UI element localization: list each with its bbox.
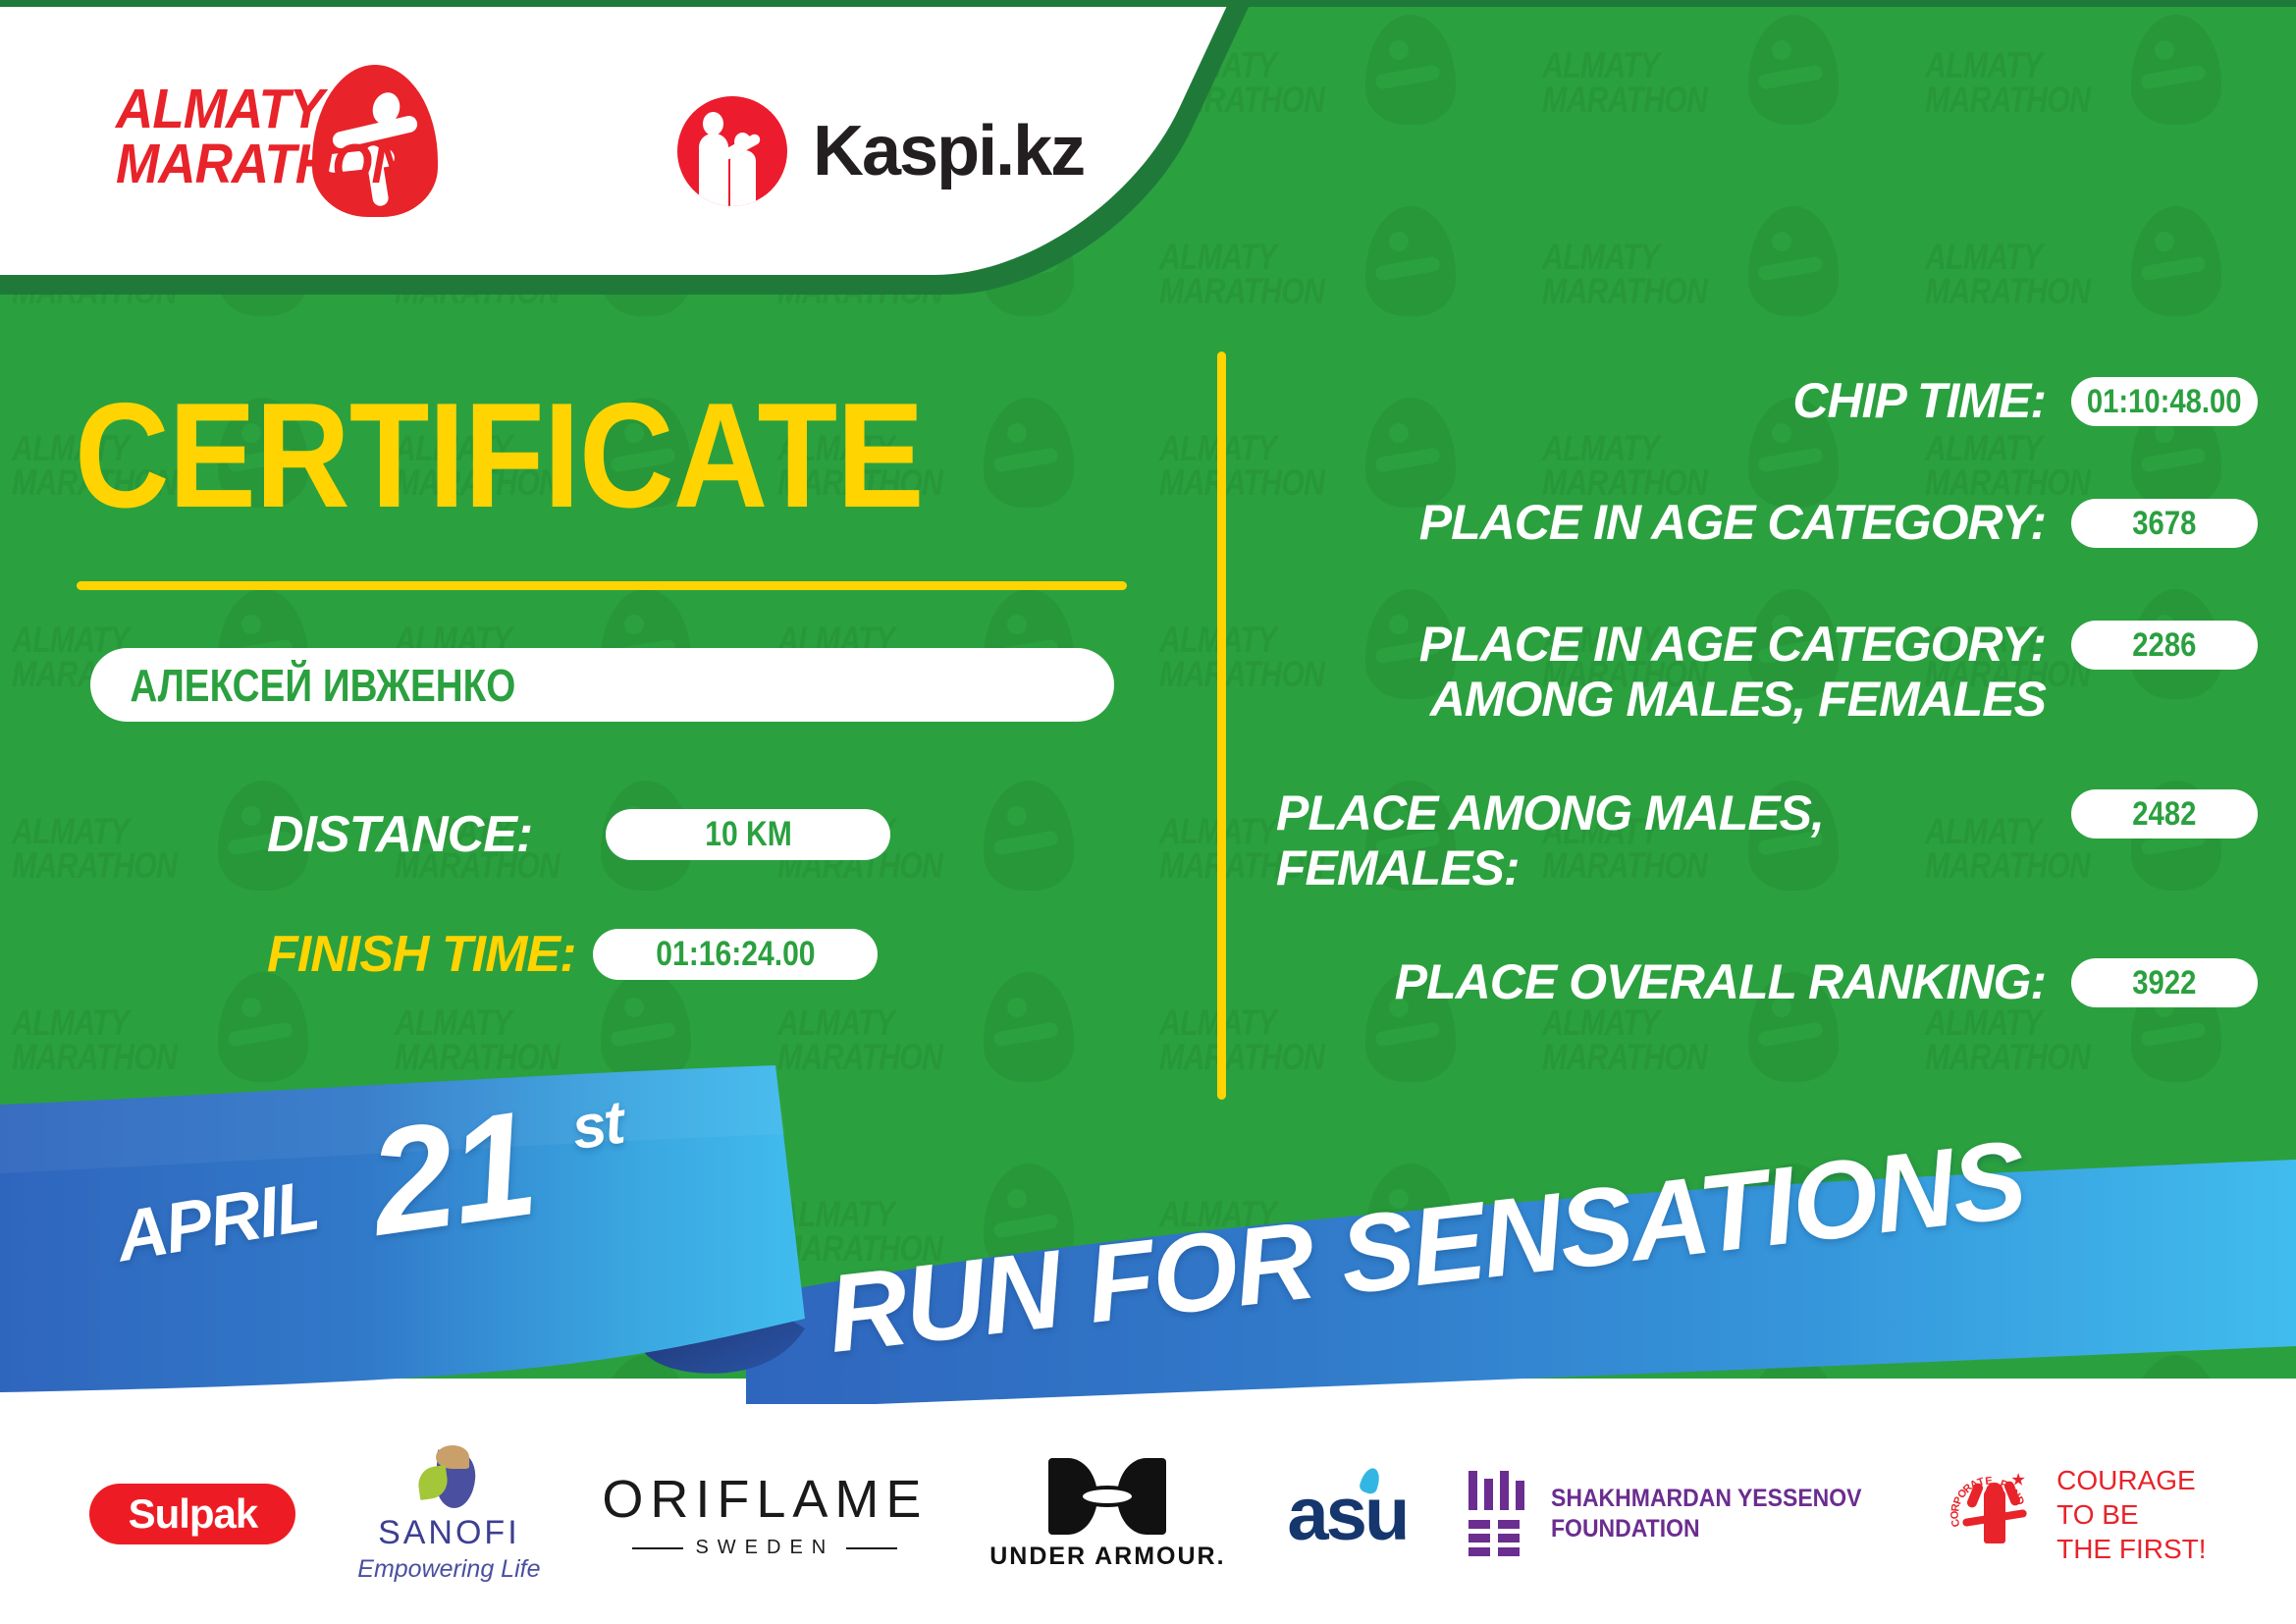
watermark-drop-icon bbox=[1748, 206, 1839, 316]
courage-mark-icon: CORPORATE FUND bbox=[1950, 1469, 2041, 1559]
watermark-tile: ALMATYMARATHON bbox=[1542, 204, 1866, 371]
under-armour-wordmark: UNDER ARMOUR. bbox=[989, 1543, 1225, 1571]
participant-name: АЛЕКСЕЙ ИВЖЕНКО bbox=[90, 659, 515, 712]
stat-value: 2482 bbox=[2132, 795, 2196, 834]
ua-center-hole-icon bbox=[1083, 1489, 1132, 1503]
watermark-text: ALMATYMARATHON bbox=[12, 814, 181, 883]
kaspi-adult-head-icon bbox=[703, 112, 723, 135]
yessenov-line1: SHAKHMARDAN YESSENOV bbox=[1551, 1484, 1862, 1514]
distance-label: DISTANCE: bbox=[267, 805, 532, 864]
event-ribbon: APRIL 21 st RUN FOR SENSATIONS bbox=[0, 1065, 2296, 1409]
stat-label: PLACE IN AGE CATEGORY: AMONG MALES, FEMA… bbox=[1276, 617, 2071, 727]
finish-time-row: FINISH TIME: 01:16:24.00 bbox=[267, 925, 878, 984]
courage-wordmark: COURAGE TO BE THE FIRST! bbox=[2056, 1463, 2206, 1566]
watermark-drop-icon bbox=[2131, 206, 2221, 316]
distance-value-pill: 10 KM bbox=[606, 809, 890, 860]
stat-row: PLACE IN AGE CATEGORY: AMONG MALES, FEMA… bbox=[1276, 617, 2258, 727]
header-content: ALMATY MARATHON Kaspi.kz bbox=[0, 0, 1178, 285]
finish-time-value: 01:16:24.00 bbox=[656, 935, 815, 974]
stat-value: 01:10:48.00 bbox=[2087, 383, 2242, 421]
yessenov-bar-icon bbox=[1468, 1547, 1490, 1556]
watermark-drop-icon bbox=[1365, 15, 1456, 125]
yessenov-mark-icon bbox=[1468, 1471, 1529, 1557]
courage-line3: THE FIRST! bbox=[2056, 1532, 2206, 1566]
oriflame-rule-right bbox=[846, 1547, 897, 1549]
stat-value-pill: 3678 bbox=[2071, 499, 2258, 548]
sponsor-under-armour: UNDER ARMOUR. bbox=[989, 1458, 1225, 1571]
page-title: CERTIFICATE bbox=[75, 381, 924, 530]
yessenov-wordmark: SHAKHMARDAN YESSENOV FOUNDATION bbox=[1551, 1484, 1862, 1545]
almaty-marathon-logo: ALMATY MARATHON bbox=[116, 61, 440, 218]
kaspi-adult-body-icon bbox=[699, 134, 728, 206]
watermark-drop-icon bbox=[2131, 15, 2221, 125]
courage-line2: TO BE bbox=[2056, 1497, 2206, 1532]
yessenov-bar-icon bbox=[1468, 1520, 1490, 1529]
almaty-marathon-wordmark: ALMATY MARATHON bbox=[116, 82, 362, 192]
watermark-text: ALMATYMARATHON bbox=[1159, 431, 1328, 500]
kaspi-wordmark: Kaspi.kz bbox=[813, 111, 1084, 191]
sponsor-bar: Sulpak SANOFI Empowering Life ORIFLAME S… bbox=[0, 1404, 2296, 1624]
kaspi-child-head-icon bbox=[734, 133, 751, 151]
title-underline bbox=[77, 581, 1127, 590]
distance-row: DISTANCE: 10 KM bbox=[267, 805, 890, 864]
yessenov-bar-icon bbox=[1484, 1479, 1493, 1510]
oriflame-rule-left bbox=[632, 1547, 683, 1549]
stat-row: PLACE OVERALL RANKING:3922 bbox=[1276, 954, 2258, 1009]
yessenov-bar-icon bbox=[1516, 1481, 1524, 1510]
under-armour-mark-icon bbox=[1048, 1458, 1166, 1535]
sanofi-mark-icon bbox=[416, 1445, 481, 1510]
sponsor-sulpak: Sulpak bbox=[89, 1484, 295, 1544]
column-divider bbox=[1217, 352, 1226, 1100]
stat-value-pill: 01:10:48.00 bbox=[2071, 377, 2258, 426]
yessenov-bar-icon bbox=[1500, 1471, 1509, 1510]
sponsor-yessenov: SHAKHMARDAN YESSENOV FOUNDATION bbox=[1468, 1471, 1889, 1557]
yessenov-bar-icon bbox=[1498, 1520, 1520, 1529]
stat-row: PLACE AMONG MALES, FEMALES:2482 bbox=[1276, 785, 2258, 895]
sponsor-courage: CORPORATE FUND COURAGE TO BE THE FIRST! bbox=[1950, 1463, 2206, 1566]
watermark-tile: ALMATYMARATHON bbox=[1925, 204, 2249, 371]
stat-label: PLACE IN AGE CATEGORY: bbox=[1276, 495, 2071, 550]
sponsor-asu: asu bbox=[1287, 1472, 1407, 1557]
courage-line1: COURAGE bbox=[2056, 1463, 2206, 1497]
oriflame-country: SWEDEN bbox=[695, 1537, 834, 1559]
yessenov-line2: FOUNDATION bbox=[1551, 1514, 1862, 1544]
watermark-text: ALMATYMARATHON bbox=[1925, 1005, 2094, 1074]
oriflame-sub: SWEDEN bbox=[632, 1537, 897, 1559]
yessenov-bar-icon bbox=[1498, 1547, 1520, 1556]
watermark-text: ALMATYMARATHON bbox=[1542, 48, 1711, 117]
sponsor-sanofi: SANOFI Empowering Life bbox=[357, 1445, 540, 1584]
yessenov-bar-icon bbox=[1468, 1471, 1477, 1510]
watermark-text: ALMATYMARATHON bbox=[12, 1005, 181, 1074]
stat-row: CHIP TIME:01:10:48.00 bbox=[1276, 373, 2258, 428]
yessenov-bar-icon bbox=[1498, 1534, 1520, 1543]
distance-value: 10 KM bbox=[705, 815, 792, 854]
watermark-text: ALMATYMARATHON bbox=[1159, 1005, 1328, 1074]
stat-value-pill: 3922 bbox=[2071, 958, 2258, 1007]
watermark-drop-icon bbox=[984, 781, 1074, 891]
watermark-text: ALMATYMARATHON bbox=[1925, 431, 2094, 500]
watermark-text: ALMATYMARATHON bbox=[395, 1005, 563, 1074]
watermark-text: ALMATYMARATHON bbox=[1542, 240, 1711, 308]
sponsor-oriflame: ORIFLAME SWEDEN bbox=[602, 1469, 928, 1559]
oriflame-wordmark: ORIFLAME bbox=[602, 1469, 928, 1530]
watermark-text: ALMATYMARATHON bbox=[1542, 1005, 1711, 1074]
finish-time-label: FINISH TIME: bbox=[267, 925, 575, 984]
watermark-tile: ALMATYMARATHON bbox=[1925, 13, 2249, 180]
almaty-line: ALMATY bbox=[116, 82, 362, 137]
watermark-text: ALMATYMARATHON bbox=[777, 1005, 946, 1074]
watermark-tile: ALMATYMARATHON bbox=[1159, 204, 1483, 371]
watermark-drop-icon bbox=[1365, 206, 1456, 316]
stat-value: 3922 bbox=[2132, 964, 2196, 1002]
watermark-drop-icon bbox=[984, 398, 1074, 508]
asu-wordmark: asu bbox=[1287, 1472, 1407, 1557]
watermark-text: ALMATYMARATHON bbox=[1542, 431, 1711, 500]
stat-label: CHIP TIME: bbox=[1276, 373, 2071, 428]
kaspi-logo: Kaspi.kz bbox=[677, 96, 1084, 206]
watermark-text: ALMATYMARATHON bbox=[1159, 240, 1328, 308]
stat-row: PLACE IN AGE CATEGORY:3678 bbox=[1276, 495, 2258, 550]
certificate-canvas: ALMATYMARATHONALMATYMARATHONALMATYMARATH… bbox=[0, 0, 2296, 1624]
stat-label: PLACE AMONG MALES, FEMALES: bbox=[1276, 785, 2071, 895]
watermark-drop-icon bbox=[1748, 15, 1839, 125]
kaspi-child-body-icon bbox=[730, 150, 756, 206]
sanofi-tagline: Empowering Life bbox=[357, 1555, 540, 1584]
top-green-rule bbox=[0, 0, 2296, 7]
ribbon-day: 21 bbox=[360, 1077, 545, 1270]
stat-value: 3678 bbox=[2132, 505, 2196, 543]
watermark-text: ALMATYMARATHON bbox=[1925, 48, 2094, 117]
ribbon-ordinal: st bbox=[567, 1088, 627, 1164]
yessenov-bar-icon bbox=[1468, 1534, 1490, 1543]
stat-value-pill: 2286 bbox=[2071, 621, 2258, 670]
finish-time-value-pill: 01:16:24.00 bbox=[593, 929, 878, 980]
participant-name-field: АЛЕКСЕЙ ИВЖЕНКО bbox=[90, 648, 1114, 722]
kaspi-circle-icon bbox=[677, 96, 787, 206]
watermark-tile: ALMATYMARATHON bbox=[1542, 13, 1866, 180]
watermark-text: ALMATYMARATHON bbox=[1925, 240, 2094, 308]
stat-value-pill: 2482 bbox=[2071, 789, 2258, 839]
sanofi-wordmark: SANOFI bbox=[378, 1514, 520, 1552]
stat-label: PLACE OVERALL RANKING: bbox=[1276, 954, 2071, 1009]
marathon-line: MARATHON bbox=[116, 137, 362, 192]
stat-value: 2286 bbox=[2132, 626, 2196, 665]
